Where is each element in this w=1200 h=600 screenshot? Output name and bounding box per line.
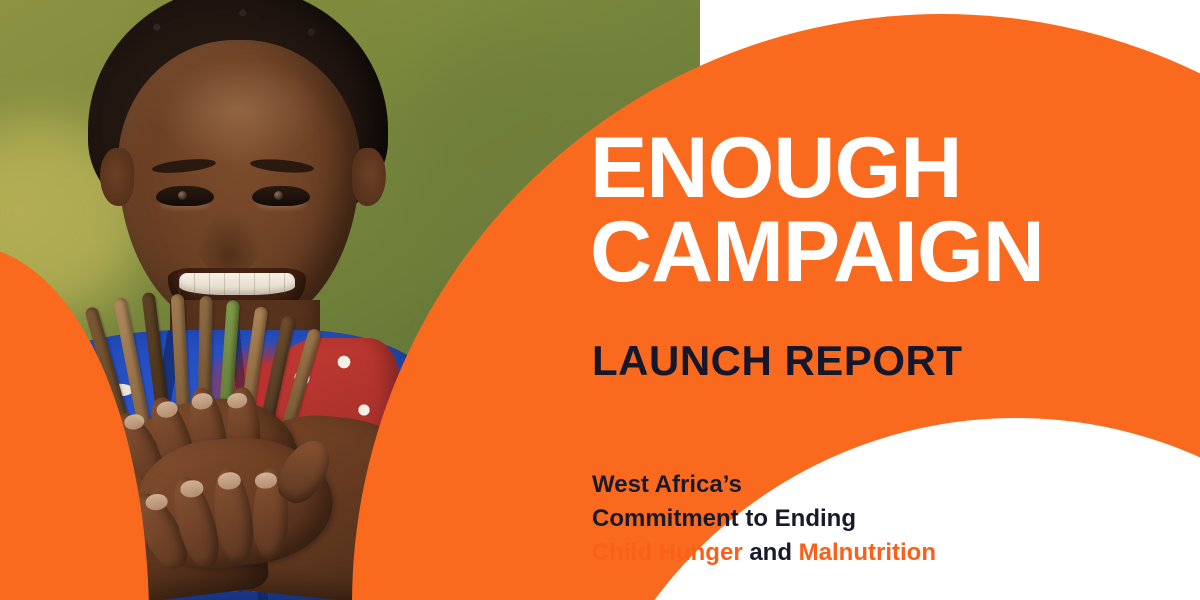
report-cover: ENOUGH CAMPAIGN LAUNCH REPORT West Afric… (0, 0, 1200, 600)
description-line-3-rest: and (743, 539, 792, 566)
subject-eye-right (252, 186, 310, 206)
description-line-2: Commitment to Ending (592, 505, 856, 532)
subject-eye-left (156, 186, 214, 206)
highlight-child-hunger: Child Hunger (592, 539, 743, 566)
subject-ear-left (100, 148, 134, 206)
cover-description: West Africa’s Commitment to Ending Child… (592, 468, 1012, 570)
description-line-1: West Africa’s (592, 471, 742, 498)
subject-nose (196, 212, 262, 274)
description-line-4: Malnutrition (799, 539, 936, 566)
headline-line-2: CAMPAIGN (590, 210, 1190, 294)
description-line-3: Child Hunger and (592, 539, 792, 566)
page-title: ENOUGH CAMPAIGN (590, 126, 1190, 295)
highlight-malnutrition: Malnutrition (799, 539, 936, 566)
headline-line-1: ENOUGH (590, 120, 961, 216)
subtitle: LAUNCH REPORT (592, 340, 963, 382)
